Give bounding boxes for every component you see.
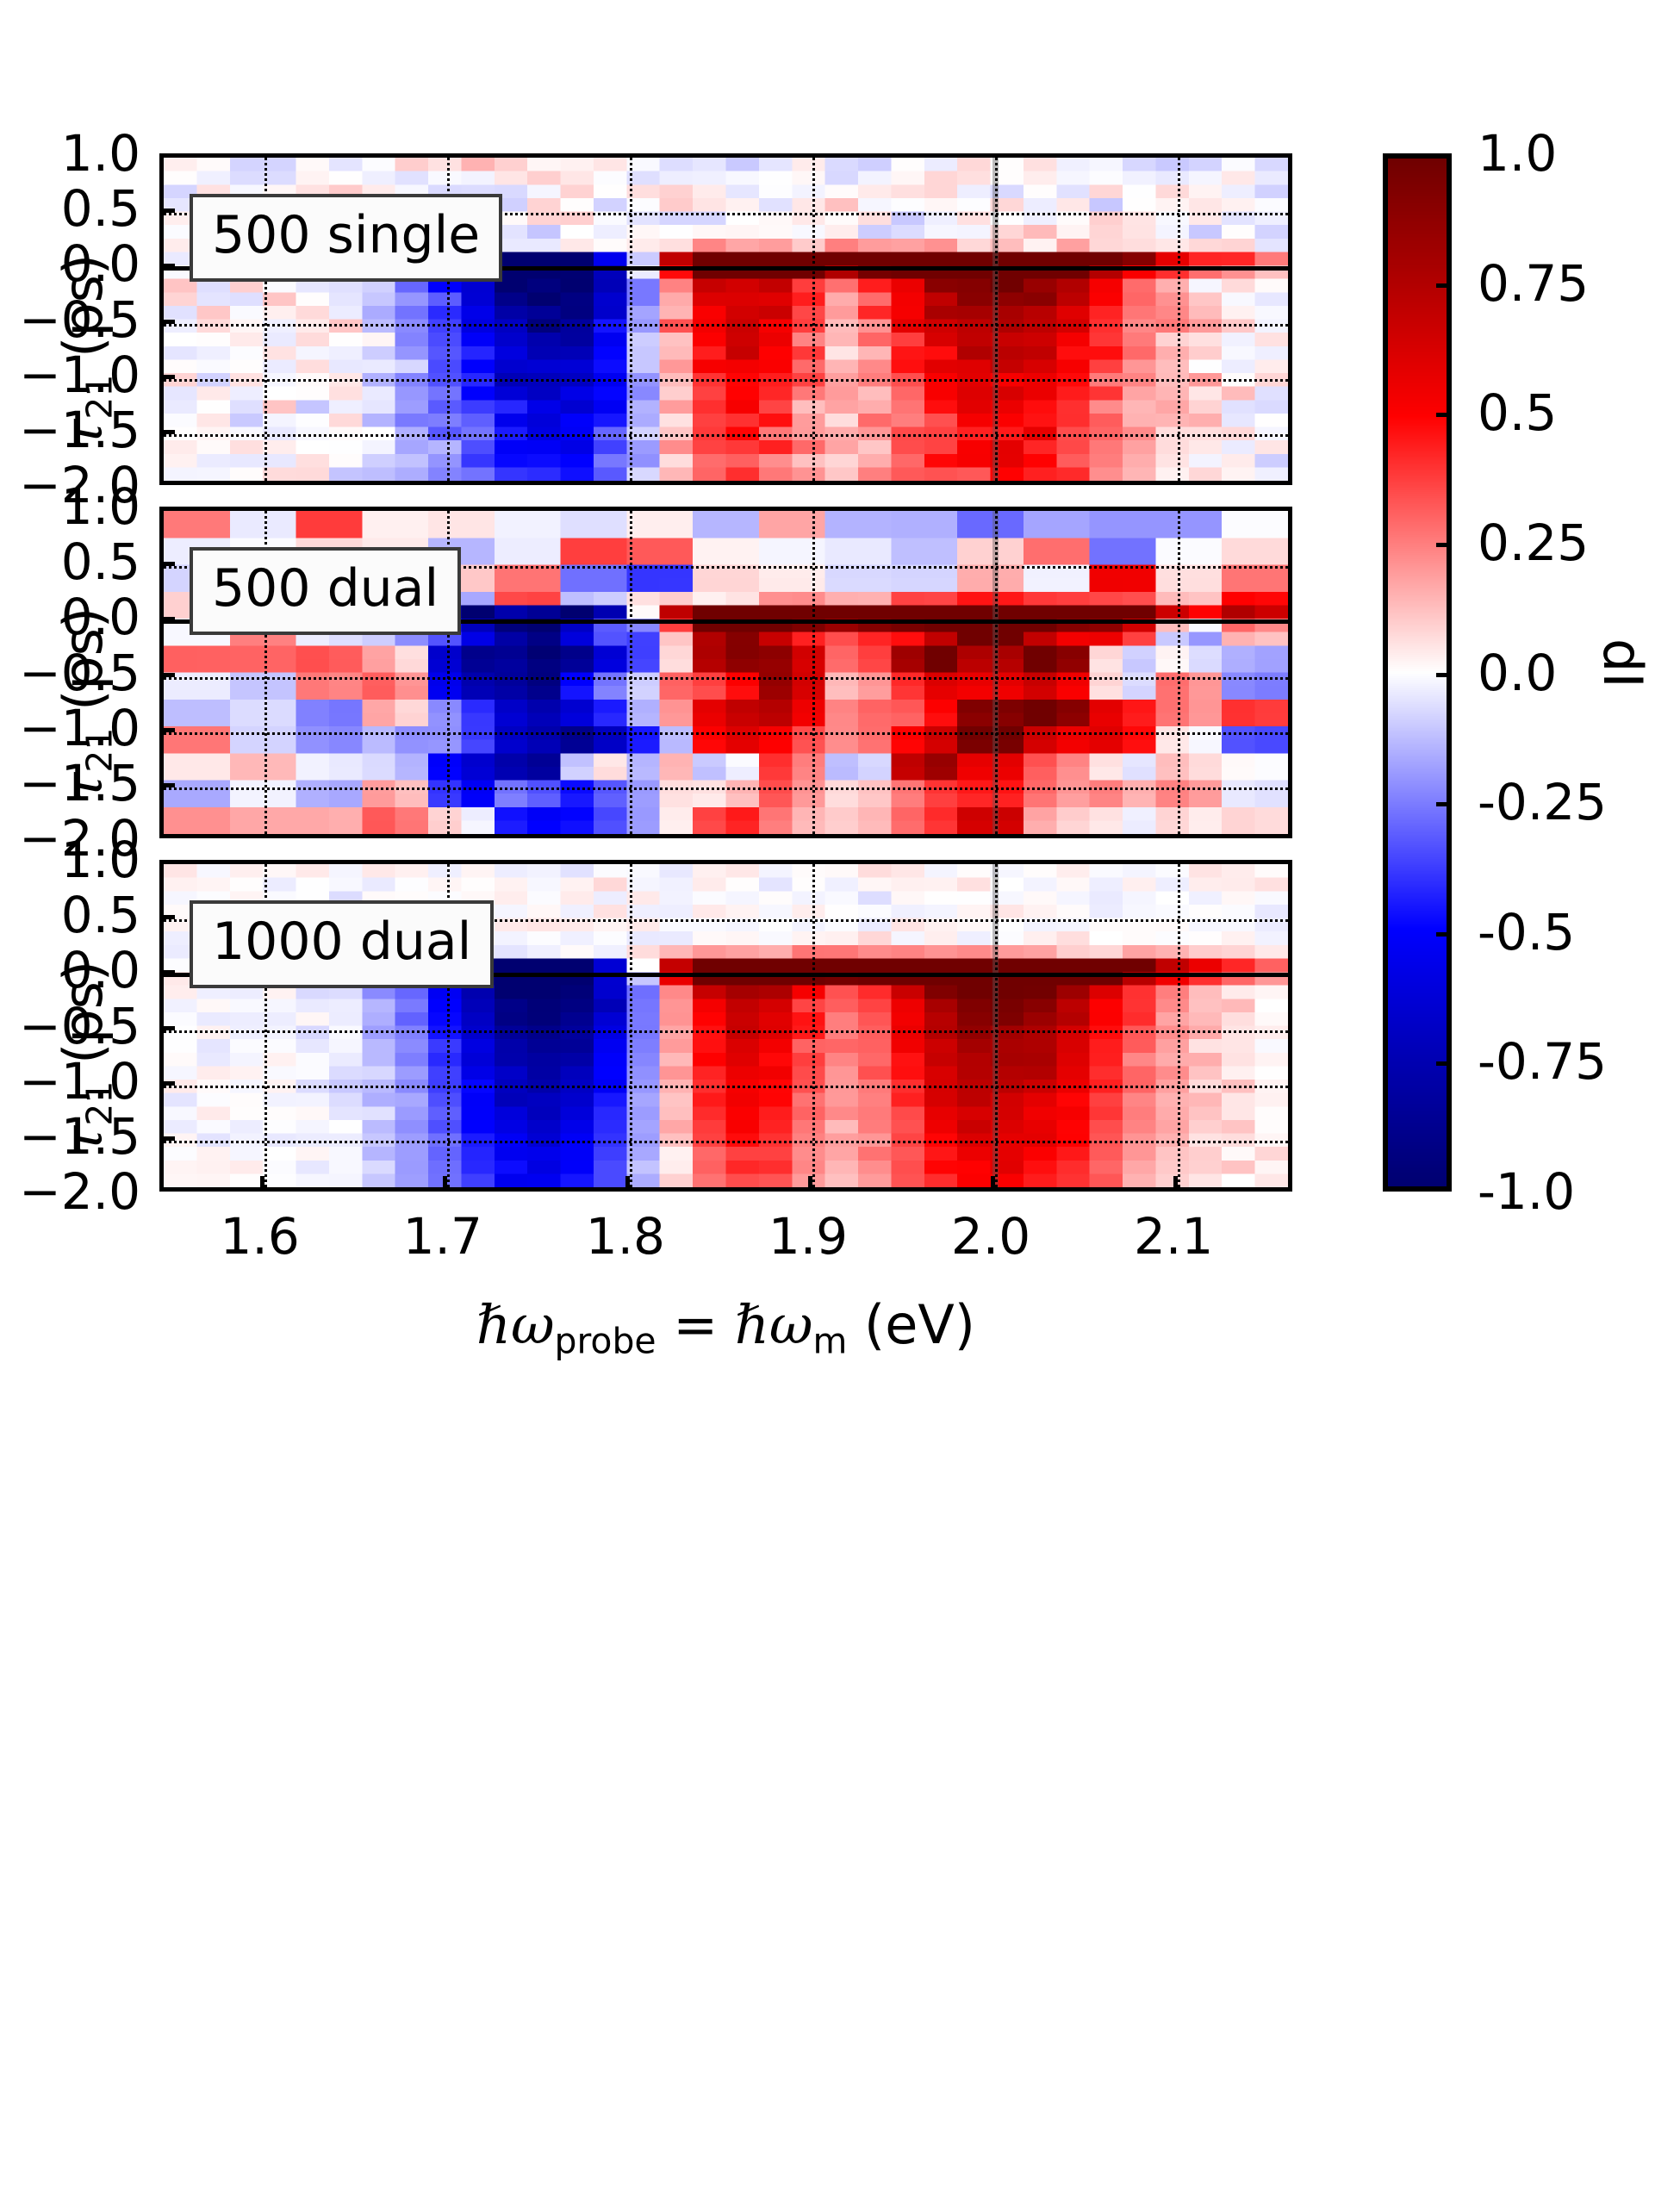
y-tick-mark [159, 320, 175, 324]
panel-500-single: 500 single [159, 153, 1292, 485]
panel-500-dual: 500 dual [159, 507, 1292, 838]
x-tick-mark [1173, 1176, 1178, 1192]
colorbar-tick-mark [1436, 1061, 1452, 1066]
x-tick-mark [625, 1176, 630, 1192]
colorbar-tick-mark [1436, 673, 1452, 677]
x-tick-label: 1.7 [403, 1207, 482, 1266]
x-tick-mark [443, 1176, 447, 1192]
marker-line-2eV [992, 511, 999, 834]
y-tick-mark [159, 562, 175, 566]
colorbar-tick-mark [1436, 932, 1452, 937]
colorbar-tick-label: 0.5 [1478, 383, 1557, 442]
panel-1000-dual: 1000 dual [159, 860, 1292, 1192]
y-tick-mark [159, 375, 175, 379]
colorbar-tick-label: 0.75 [1478, 254, 1589, 313]
y-axis-label: τ21 (ps) [52, 253, 120, 448]
panel-label-panel-500-dual: 500 dual [190, 547, 461, 635]
colorbar-tick-label: 1.0 [1478, 124, 1557, 183]
colorbar-tick-label: -1.0 [1478, 1162, 1575, 1221]
y-axis-label: τ21 (ps) [52, 960, 120, 1155]
y-axis-label: τ21 (ps) [52, 607, 120, 801]
y-tick-mark [159, 1081, 175, 1086]
y-tick-mark [159, 264, 175, 268]
x-tick-label: 2.1 [1134, 1207, 1213, 1266]
x-tick-label: 1.6 [221, 1207, 300, 1266]
colorbar-tick-label: 0.25 [1478, 513, 1589, 572]
x-tick-mark [991, 1176, 995, 1192]
colorbar-tick-mark [1436, 802, 1452, 806]
y-tick-mark [159, 673, 175, 677]
x-tick-mark [260, 1176, 264, 1192]
y-tick-mark [159, 970, 175, 974]
y-tick-label: −2.0 [19, 1162, 140, 1221]
figure-root: 500 single1.00.50.0−0.5−1.0−1.5−2.0500 d… [0, 0, 1680, 2197]
y-tick-label: 1.0 [61, 477, 140, 536]
y-tick-mark [159, 783, 175, 787]
x-tick-label: 1.9 [768, 1207, 848, 1266]
y-tick-mark [159, 915, 175, 919]
panel-label-panel-500-single: 500 single [190, 194, 502, 282]
marker-line-2eV [992, 158, 999, 481]
colorbar-tick-mark [1436, 413, 1452, 417]
y-tick-mark [159, 1026, 175, 1030]
colorbar-tick-label: -0.25 [1478, 773, 1607, 831]
y-tick-label: 0.5 [61, 532, 140, 591]
marker-line-2eV [992, 864, 999, 1187]
x-axis-label: ℏωprobe = ℏωm (eV) [159, 1293, 1292, 1361]
panel-label-panel-1000-dual: 1000 dual [190, 900, 494, 988]
x-tick-mark [808, 1176, 812, 1192]
y-tick-label: 0.5 [61, 179, 140, 238]
colorbar-tick-label: -0.5 [1478, 903, 1575, 962]
y-tick-mark [159, 617, 175, 621]
colorbar-tick-label: -0.75 [1478, 1032, 1607, 1091]
colorbar-label: dI [1591, 638, 1654, 688]
x-tick-label: 1.8 [586, 1207, 665, 1266]
colorbar-tick-mark [1436, 543, 1452, 547]
y-tick-mark [159, 1136, 175, 1141]
y-tick-mark [159, 430, 175, 434]
x-tick-label: 2.0 [951, 1207, 1030, 1266]
y-tick-label: 1.0 [61, 831, 140, 889]
y-tick-mark [159, 728, 175, 732]
y-tick-mark [159, 208, 175, 213]
y-tick-label: 1.0 [61, 124, 140, 183]
colorbar-tick-mark [1436, 283, 1452, 288]
y-tick-label: 0.5 [61, 886, 140, 944]
colorbar-tick-label: 0.0 [1478, 644, 1557, 702]
